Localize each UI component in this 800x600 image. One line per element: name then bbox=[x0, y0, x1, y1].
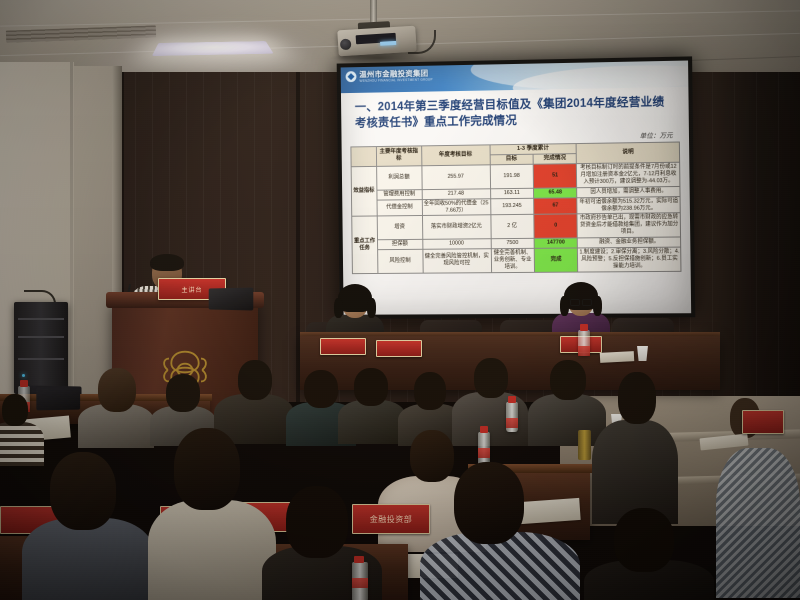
table-corner-cell bbox=[351, 146, 377, 166]
audience-nameplate bbox=[742, 410, 784, 434]
panelist-hair bbox=[334, 298, 343, 318]
column-header-note: 说明 bbox=[577, 142, 680, 164]
row-group-label: 效益指标 bbox=[351, 166, 377, 216]
row-group-label: 重点工作任务 bbox=[351, 216, 377, 273]
slide-title: 一、2014年第三季度经营目标值及《集团2014年度经营业绩 考核责任书》重点工… bbox=[341, 87, 689, 135]
column-header-indicator: 主要年度考核指标 bbox=[376, 146, 421, 167]
audience-member-front bbox=[584, 508, 714, 600]
water-bottle bbox=[578, 330, 590, 356]
audience-member bbox=[592, 372, 678, 522]
podium-nameplate-text: 主讲台 bbox=[181, 285, 202, 294]
cell-achievement: 完成 bbox=[534, 248, 578, 272]
audience-head bbox=[618, 372, 656, 424]
table-row: 重点工作任务 增资 落实市财政增资2亿元 2 亿 0 市政府抄告单已出，现需市财… bbox=[351, 213, 680, 240]
cell-q-target: 163.11 bbox=[490, 188, 533, 198]
cell-annual-target: 全年回收50%的代偿金（257.66万） bbox=[422, 198, 491, 216]
audience-head bbox=[50, 452, 116, 530]
audience-member-front bbox=[420, 462, 580, 600]
ceiling-light-panel bbox=[152, 41, 274, 56]
cell-q-target: 健全完善机制、业务创新、专业培训。 bbox=[491, 248, 535, 272]
screen-surface: 温州市金融投资集团 WENZHOU FINANCIAL INVESTMENT G… bbox=[341, 61, 692, 315]
audience-member bbox=[78, 368, 154, 446]
column-header-q-target: 目标 bbox=[490, 154, 533, 165]
audience-head bbox=[474, 358, 508, 398]
column-header-achievement: 完成情况 bbox=[533, 153, 577, 164]
cell-annual-target: 健全完善风险管控机制，实现风险可控 bbox=[423, 249, 492, 273]
diamond-logo-icon bbox=[346, 71, 357, 82]
audience-head bbox=[614, 508, 674, 572]
cell-q-target: 7500 bbox=[491, 238, 534, 248]
audience-head bbox=[354, 368, 388, 406]
speaker-hair bbox=[150, 254, 184, 271]
panelist-hair bbox=[367, 298, 376, 318]
projector-lens-icon bbox=[340, 39, 352, 51]
cell-achievement: 67 bbox=[534, 197, 578, 214]
audience-head bbox=[304, 370, 338, 408]
cell-indicator: 增资 bbox=[377, 216, 422, 240]
cell-achievement: 65.48 bbox=[533, 187, 577, 197]
audience-member-front bbox=[148, 428, 276, 600]
cell-achievement: 147700 bbox=[534, 238, 578, 248]
eyeglasses-icon bbox=[570, 299, 592, 304]
audience-head bbox=[550, 360, 586, 400]
kpi-table: 主要年度考核指标 年度考核目标 1-3 季度累计 说明 目标 完成情况 效益指标 bbox=[350, 141, 682, 274]
thermos-flask bbox=[578, 430, 591, 460]
panelist-hair bbox=[560, 296, 569, 316]
audience-head bbox=[286, 486, 348, 558]
podium-laptop bbox=[209, 287, 254, 310]
audience-torso bbox=[22, 518, 154, 600]
av-power-led-icon bbox=[22, 374, 25, 377]
cell-note: 市政府抄告单已出，现需市财政的应急转贷资金后才能借款给集团，建议作为加分项目。 bbox=[577, 213, 680, 238]
company-logo: 温州市金融投资集团 WENZHOU FINANCIAL INVESTMENT G… bbox=[346, 70, 433, 83]
water-bottle bbox=[352, 562, 368, 600]
column-header-annual-target: 年度考核目标 bbox=[421, 145, 490, 166]
projector-led-icon bbox=[380, 41, 396, 46]
water-bottle bbox=[506, 402, 518, 432]
cell-indicator: 代偿金控制 bbox=[377, 199, 422, 216]
conference-room-photo: 温州市金融投资集团 WENZHOU FINANCIAL INVESTMENT G… bbox=[0, 0, 800, 600]
panel-nameplate bbox=[376, 340, 422, 357]
cell-note: 考核目标制订时的前提条件是7月份或12月增加注册资本金2亿元，7-12月利息收入… bbox=[577, 162, 680, 187]
projection-screen: 温州市金融投资集团 WENZHOU FINANCIAL INVESTMENT G… bbox=[337, 56, 696, 318]
cell-q-target: 193.245 bbox=[490, 198, 534, 215]
audience-head bbox=[414, 372, 446, 410]
cell-note: 年初可追偿余额为515.32万元，实际可追偿余额为238.96万元。 bbox=[577, 196, 680, 214]
cell-achievement: 51 bbox=[533, 164, 577, 188]
company-name-en: WENZHOU FINANCIAL INVESTMENT GROUP bbox=[359, 78, 432, 83]
audience-head bbox=[166, 374, 200, 412]
cell-note: 1.制度建设；2.审保分离；3.风险分散；4.风险预警；5.反担保措施创新；6.… bbox=[578, 247, 681, 272]
cell-q-target: 2 亿 bbox=[490, 215, 534, 239]
audience-head bbox=[174, 428, 240, 510]
panelist-hair bbox=[593, 296, 602, 316]
audience-head bbox=[454, 462, 524, 544]
table-row: 风险控制 健全完善风险管控机制，实现风险可控 健全完善机制、业务创新、专业培训。… bbox=[352, 247, 681, 273]
audience-head bbox=[2, 394, 28, 426]
panel-nameplate bbox=[320, 338, 366, 355]
left-wall-seam bbox=[70, 62, 73, 402]
projector-display-panel bbox=[356, 33, 396, 44]
cell-annual-target: 落实市财政增资2亿元 bbox=[422, 215, 491, 239]
audience-member-front bbox=[22, 452, 154, 600]
audience-torso bbox=[148, 500, 276, 600]
cell-indicator: 担保额 bbox=[377, 239, 422, 249]
water-bottle bbox=[478, 432, 490, 466]
audience-torso bbox=[716, 448, 800, 598]
cell-achievement: 0 bbox=[534, 214, 578, 238]
cell-q-target: 191.98 bbox=[490, 164, 534, 188]
ceiling-projector bbox=[337, 26, 416, 57]
cell-indicator: 利润总额 bbox=[376, 166, 421, 190]
audience-head bbox=[98, 368, 136, 412]
cell-indicator: 风险控制 bbox=[377, 249, 422, 273]
projector-mount-pole bbox=[370, 0, 377, 24]
cell-annual-target: 255.97 bbox=[421, 165, 490, 190]
audience-head bbox=[238, 360, 272, 400]
presentation-slide: 温州市金融投资集团 WENZHOU FINANCIAL INVESTMENT G… bbox=[341, 61, 692, 315]
cell-annual-target: 10000 bbox=[422, 239, 490, 249]
cell-indicator: 管理费用控制 bbox=[377, 189, 422, 199]
